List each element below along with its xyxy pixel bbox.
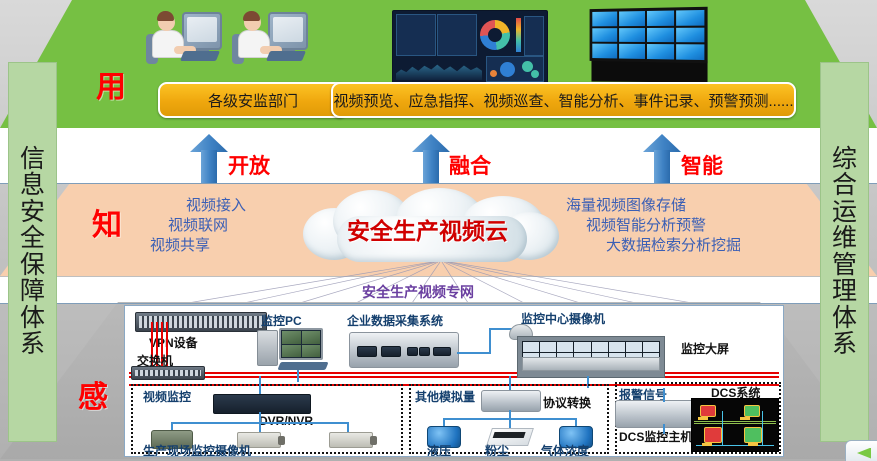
camera-drop-3: [347, 422, 349, 432]
keyboard-icon: [266, 51, 306, 61]
arrow-smart-label: 智能: [681, 150, 723, 180]
device-panel: VPN设备 交换机 监控PC 企业数据采集系统 监控中心摄像机: [124, 305, 784, 457]
rail-char: 障: [20, 279, 45, 305]
network-label: 安全生产视频专网: [362, 282, 474, 302]
rail-char: 合: [832, 173, 857, 199]
operators-image: [146, 6, 316, 72]
dvr-nvr-label: DVR/NVR: [259, 414, 313, 428]
dcs-bus-2: [694, 423, 776, 424]
cloud-cap-right-2: 视频智能分析预警: [586, 214, 706, 235]
cloud-cap-left-3: 视频共享: [150, 234, 210, 255]
rail-char: 综: [832, 147, 857, 173]
dcs-chip: [698, 417, 708, 420]
rail-char: 体: [20, 306, 45, 332]
pc-tower-icon: [257, 330, 278, 366]
dcs-host-icon: [615, 400, 695, 428]
big-screen-label: 监控大屏: [681, 340, 729, 357]
play-back-icon: [857, 448, 871, 459]
dcs-chip: [740, 417, 750, 420]
operator-figure: [232, 6, 312, 72]
cloud-cap-right-3: 大数据检索分析挖掘: [606, 234, 741, 255]
dcs-wire-v1: [722, 411, 723, 445]
dcs-unit-green: [744, 405, 760, 417]
screen-surface: [273, 17, 303, 42]
bubble-small: [490, 70, 497, 77]
pc-screen-icon: [279, 328, 323, 360]
divider-sense-top: [0, 303, 877, 304]
box-camera-icon: [329, 432, 373, 448]
dcs-unit-red: [700, 405, 716, 417]
person-hair: [243, 11, 260, 21]
arrow-fuse-label: 融合: [449, 150, 491, 180]
sensor-drop-2: [509, 418, 511, 428]
data-acq-uplink-v: [489, 328, 491, 354]
stage-label-sense: 感: [78, 372, 108, 416]
sidebar-right-rail: 综合运维管理体系: [820, 62, 869, 442]
dcs-bus: [694, 421, 776, 422]
monitor-pc-label: 监控PC: [261, 312, 302, 329]
rail-char: 保: [20, 253, 45, 279]
functions-box[interactable]: 视频预览、应急指挥、视频巡查、智能分析、事件记录、预警预测......: [331, 82, 796, 118]
rail-char: 系: [20, 332, 45, 358]
rail-char: 体: [832, 306, 857, 332]
sidebar-left-rail: 信息安全保障体系: [8, 62, 57, 442]
video-wall-image: [586, 8, 716, 84]
dvr-uplink: [259, 376, 261, 394]
group-analog-title: 其他模拟量: [415, 388, 475, 405]
video-wall-base: [591, 60, 707, 83]
arrow-open-label: 开放: [228, 150, 270, 180]
arrow-open-icon: [190, 134, 228, 184]
operator-desk: [522, 357, 660, 371]
operator-figure: [146, 6, 226, 72]
dashboard-scatter: [524, 16, 544, 56]
divider-know-top: [0, 183, 877, 184]
dcs-downlink: [663, 424, 665, 434]
rail-char: 维: [832, 226, 857, 252]
center-camera-label: 监控中心摄像机: [521, 310, 605, 327]
keyboard-icon: [180, 51, 220, 61]
camera-drop-2: [259, 422, 261, 432]
dcs-chip: [702, 443, 712, 446]
sensor-label-hydraulic: 液压: [427, 442, 451, 457]
cloud-shape: 安全生产视频云: [285, 188, 570, 264]
sensor-label-gas: 气体浓度: [541, 442, 589, 457]
switch-label: 交换机: [137, 352, 173, 369]
data-acq-port: [419, 347, 430, 356]
pc-bus-link: [297, 370, 299, 382]
data-acq-port: [407, 347, 418, 356]
data-acq-port: [381, 346, 401, 357]
data-acq-port: [357, 346, 377, 357]
rail-char: 安: [20, 200, 45, 226]
data-acq-uplink: [457, 352, 491, 354]
converter-uplink: [509, 376, 511, 390]
rail-char: 全: [20, 226, 45, 252]
dashboard-bubble-panel: [486, 56, 544, 82]
rail-char: 管: [832, 253, 857, 279]
bi-dashboard-image: [392, 10, 548, 84]
stage-label-know: 知: [92, 200, 122, 244]
dcs-chip: [748, 443, 758, 446]
data-acq-port: [433, 347, 451, 356]
dashboard-donut: [480, 20, 510, 50]
group-video-title: 视频监控: [143, 388, 191, 405]
rail-char: 运: [832, 200, 857, 226]
bubble-mid-2: [531, 70, 539, 78]
cloud-cap-left-2: 视频联网: [168, 214, 228, 235]
dcs-wire-v2: [762, 411, 763, 445]
sensor-label-dust: 粉尘: [485, 442, 509, 457]
dcs-uplink: [663, 388, 665, 402]
cloud-cap-right-1: 海量视频图像存储: [566, 194, 686, 215]
dcs-unit-green-2: [744, 427, 762, 443]
pc-keyboard-icon: [277, 362, 328, 370]
rail-char: 系: [832, 332, 857, 358]
person-hair: [157, 11, 174, 21]
dcs-schematic-image: [691, 398, 779, 452]
dashboard-table-mid: [437, 14, 477, 56]
data-acq-label: 企业数据采集系统: [347, 312, 443, 329]
cloud-cap-left-1: 视频接入: [186, 194, 246, 215]
dashboard-content: [396, 14, 544, 80]
corner-widget[interactable]: [845, 440, 877, 461]
dashboard-table-left: [396, 14, 436, 56]
vpn-device-icon: [135, 312, 267, 332]
arrow-fuse-icon: [412, 134, 450, 184]
dashboard-area-chart: [396, 58, 482, 80]
dashboard-heatbar: [516, 18, 521, 52]
dcs-host-label: DCS监控主机: [619, 428, 692, 445]
dcs-unit-red-2: [704, 427, 722, 443]
rail-char: 理: [832, 279, 857, 305]
diagram-canvas: 用 各级安监部门 视频预览、应急指挥、视频巡查、智能分析、事件记录、预警预测..…: [0, 0, 877, 461]
rail-char: 信: [20, 147, 45, 173]
dvr-nvr-icon: [213, 394, 311, 414]
dept-box[interactable]: 各级安监部门: [158, 82, 348, 118]
stage-label-use: 用: [96, 62, 126, 106]
video-wall-panels: [590, 7, 708, 63]
rail-char: 息: [20, 173, 45, 199]
screen-surface: [187, 17, 217, 42]
cloud-title: 安全生产视频云: [285, 212, 570, 246]
arrow-smart-icon: [643, 134, 681, 184]
control-room-image: [517, 336, 665, 378]
protocol-converter-label: 协议转换: [543, 394, 591, 411]
field-camera-caption: 生产现场监控摄像机: [143, 442, 251, 457]
protocol-converter-icon: [481, 390, 541, 412]
red-bus-line: [129, 372, 779, 374]
bubble-large: [500, 62, 515, 77]
